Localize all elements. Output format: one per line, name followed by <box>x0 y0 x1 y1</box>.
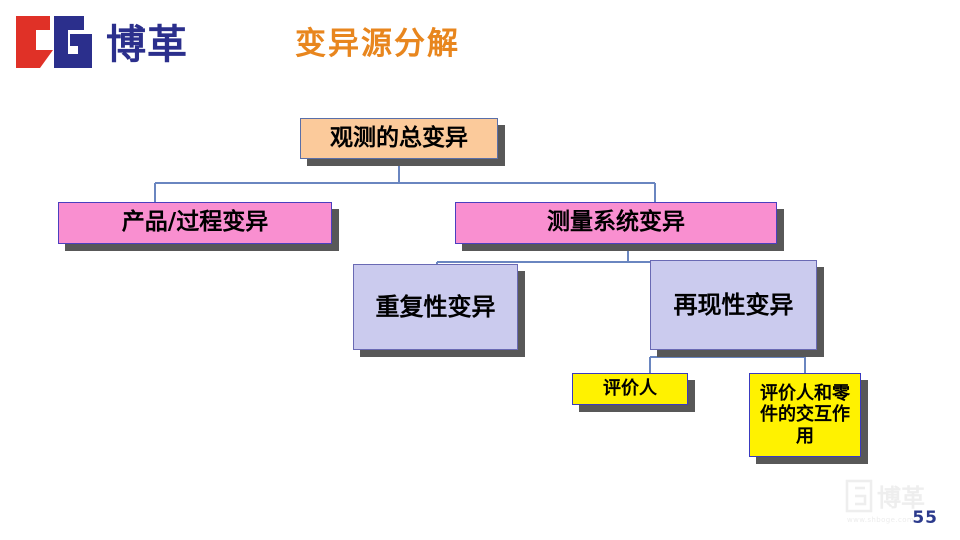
page-title: 变异源分解 <box>295 18 460 63</box>
page-number: 55 <box>912 508 938 528</box>
node-measurement-system-variation[interactable]: 测量系统变异 <box>455 202 777 244</box>
node-reproducibility-variation[interactable]: 再现性变异 <box>650 260 817 350</box>
boge-logo: 博革 <box>10 12 195 72</box>
node-label: 产品/过程变异 <box>116 209 274 236</box>
node-label: 评价人 <box>597 378 663 399</box>
node-appraiser-part-interaction[interactable]: 评价人和零件的交互作用 <box>749 373 861 457</box>
svg-text:博革: 博革 <box>106 22 188 68</box>
watermark-url: www.shboge.com <box>847 516 914 524</box>
node-appraiser[interactable]: 评价人 <box>572 373 688 405</box>
node-observed-total-variation[interactable]: 观测的总变异 <box>300 118 498 159</box>
node-label: 再现性变异 <box>668 291 800 319</box>
node-label: 评价人和零件的交互作用 <box>749 383 861 447</box>
slide-canvas: 博革 变异源分解 观测的总变异 产 <box>0 0 960 540</box>
node-label: 重复性变异 <box>370 293 502 321</box>
node-label: 观测的总变异 <box>324 125 474 152</box>
node-label: 测量系统变异 <box>541 209 691 236</box>
node-repeatability-variation[interactable]: 重复性变异 <box>353 264 518 350</box>
node-product-process-variation[interactable]: 产品/过程变异 <box>58 202 332 244</box>
